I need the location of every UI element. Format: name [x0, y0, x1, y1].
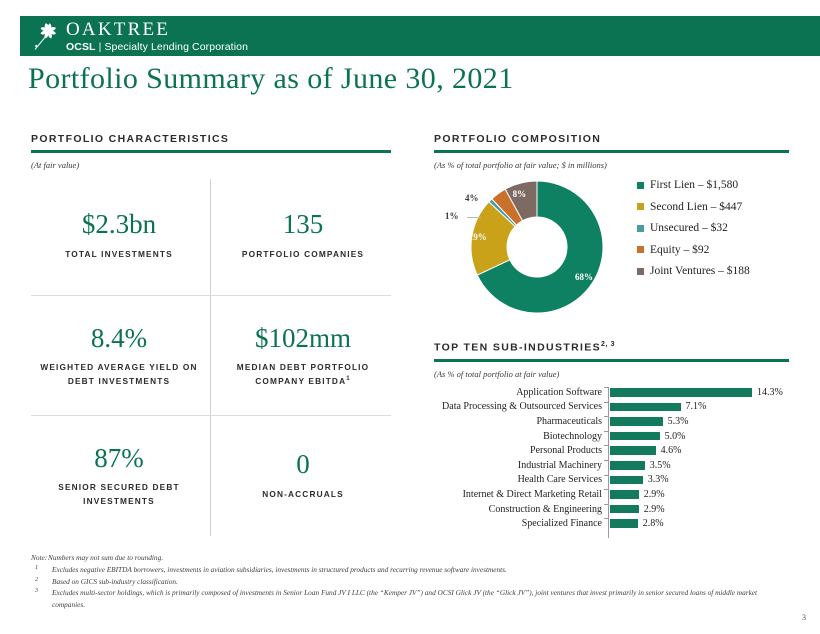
stat-label: MEDIAN DEBT PORTFOLIO COMPANY EBITDA1 — [215, 361, 391, 388]
footnote-ref: 1 — [346, 376, 351, 382]
bar-category-label: Pharmaceuticals — [434, 416, 608, 427]
bar-fill[interactable] — [610, 403, 681, 412]
stats-grid: $2.3bn TOTAL INVESTMENTS 135 PORTFOLIO C… — [31, 175, 391, 540]
bar-category-label: Specialized Finance — [434, 518, 608, 529]
axis-tick — [604, 431, 608, 432]
bar-fill[interactable] — [610, 519, 638, 528]
heading-text: TOP TEN SUB-INDUSTRIES — [434, 342, 601, 354]
brand-ticker: OCSL — [66, 41, 96, 53]
footnote-marker: Note: — [31, 552, 48, 564]
legend-color-chip — [637, 203, 644, 210]
stat-cell-median-ebitda: $102mm MEDIAN DEBT PORTFOLIO COMPANY EBI… — [215, 297, 391, 415]
bar-row: Personal Products4.6% — [434, 443, 794, 458]
top-ten-subindustries-note: (As % of total portfolio at fair value) — [434, 369, 789, 379]
footnote-item: 2 Based on GICS sub-industry classificat… — [31, 576, 776, 588]
bar-track: 3.5% — [608, 458, 794, 473]
section-rule — [434, 359, 789, 362]
stat-value: 87% — [94, 444, 144, 472]
legend-item: Joint Ventures – $188 — [637, 265, 797, 277]
bar-fill[interactable] — [610, 461, 645, 470]
brand-entity: | Specialty Lending Corporation — [96, 41, 248, 53]
bar-fill[interactable] — [610, 388, 752, 397]
footnotes: Note: Numbers may not sum due to roundin… — [31, 552, 776, 611]
bar-value-label: 2.9% — [644, 489, 665, 500]
bar-row: Health Care Services3.3% — [434, 473, 794, 488]
legend-item: First Lien – $1,580 — [637, 179, 797, 191]
portfolio-characteristics-section: PORTFOLIO CHARACTERISTICS (At fair value… — [31, 133, 391, 170]
bar-category-label: Health Care Services — [434, 474, 608, 485]
stat-value: 8.4% — [91, 324, 147, 352]
stat-value: 135 — [283, 210, 324, 238]
grid-horizontal-divider-1 — [31, 295, 391, 296]
stat-value: $102mm — [255, 324, 351, 352]
stat-label: NON-ACCRUALS — [262, 488, 344, 502]
bar-track: 2.9% — [608, 502, 794, 517]
top-ten-subindustries-chart: Application Software14.3%Data Processing… — [434, 385, 794, 540]
grid-horizontal-divider-2 — [31, 415, 391, 416]
page-number: 3 — [802, 613, 806, 622]
brand-subtitle: OCSL | Specialty Lending Corporation — [66, 42, 248, 53]
footnote-marker: 3 — [31, 587, 52, 611]
brand-name: OAKTREE — [66, 20, 248, 39]
axis-tick — [604, 402, 608, 403]
bar-value-label: 2.9% — [644, 504, 665, 515]
stat-cell-portfolio-companies: 135 PORTFOLIO COMPANIES — [215, 177, 391, 295]
axis-tick — [604, 445, 608, 446]
bar-value-label: 3.3% — [648, 474, 669, 485]
bar-track: 4.6% — [608, 443, 794, 458]
portfolio-composition-note: (As % of total portfolio at fair value; … — [434, 160, 789, 170]
bar-fill[interactable] — [610, 432, 660, 441]
footnote-ref: 2, 3 — [601, 341, 615, 348]
donut-slice-label: 19% — [469, 232, 487, 242]
bar-category-label: Construction & Engineering — [434, 504, 608, 515]
stat-label-text: MEDIAN DEBT PORTFOLIO COMPANY EBITDA — [237, 362, 369, 386]
bar-category-label: Application Software — [434, 387, 608, 398]
stat-label: PORTFOLIO COMPANIES — [242, 248, 364, 262]
axis-tick — [604, 416, 608, 417]
bar-track: 5.0% — [608, 429, 794, 444]
donut-slice-label: 8% — [513, 189, 527, 199]
footnote-text: Excludes multi-sector holdings, which is… — [52, 587, 776, 611]
portfolio-characteristics-note: (At fair value) — [31, 160, 391, 170]
bar-value-label: 14.3% — [757, 387, 783, 398]
bar-track: 7.1% — [608, 400, 794, 415]
stat-cell-non-accruals: 0 NON-ACCRUALS — [215, 417, 391, 535]
legend-label: Second Lien – $447 — [650, 201, 742, 213]
footnote-marker: 1 — [31, 564, 52, 576]
portfolio-characteristics-heading: PORTFOLIO CHARACTERISTICS — [31, 133, 391, 145]
axis-tick — [604, 504, 608, 505]
bar-track: 2.8% — [608, 516, 794, 531]
axis-tick — [604, 489, 608, 490]
bar-row: Pharmaceuticals5.3% — [434, 414, 794, 429]
bar-fill[interactable] — [610, 476, 643, 485]
bar-row: Application Software14.3% — [434, 385, 794, 400]
bar-row: Internet & Direct Marketing Retail2.9% — [434, 487, 794, 502]
portfolio-composition-section: PORTFOLIO COMPOSITION (As % of total por… — [434, 133, 789, 170]
bar-row: Industrial Machinery3.5% — [434, 458, 794, 473]
top-ten-subindustries-section: TOP TEN SUB-INDUSTRIES2, 3 (As % of tota… — [434, 341, 789, 379]
footnote-text: Based on GICS sub-industry classificatio… — [52, 576, 776, 588]
footnote-text: Numbers may not sum due to rounding. — [48, 552, 776, 564]
footnote-text: Excludes negative EBITDA borrowers, inve… — [52, 564, 776, 576]
donut-slice-label: 4% — [465, 193, 479, 203]
bar-value-label: 7.1% — [686, 401, 707, 412]
legend-color-chip — [637, 268, 644, 275]
bar-row: Specialized Finance2.8% — [434, 516, 794, 531]
bar-category-label: Internet & Direct Marketing Retail — [434, 489, 608, 500]
bar-row: Data Processing & Outsourced Services7.1… — [434, 400, 794, 415]
footnote-item: 3 Excludes multi-sector holdings, which … — [31, 587, 776, 611]
stat-value: 0 — [296, 450, 310, 478]
axis-tick — [604, 518, 608, 519]
legend-label: Unsecured – $32 — [650, 222, 728, 234]
bar-track: 14.3% — [608, 385, 794, 400]
bar-row: Biotechnology5.0% — [434, 429, 794, 444]
donut-chart-svg — [462, 175, 612, 320]
donut-slice-label: 68% — [575, 272, 593, 282]
bar-row: Construction & Engineering2.9% — [434, 502, 794, 517]
axis-tick — [604, 475, 608, 476]
top-ten-subindustries-heading: TOP TEN SUB-INDUSTRIES2, 3 — [434, 341, 789, 354]
bar-track: 3.3% — [608, 473, 794, 488]
legend-color-chip — [637, 225, 644, 232]
stat-cell-total-investments: $2.3bn TOTAL INVESTMENTS — [31, 177, 207, 295]
bar-fill[interactable] — [610, 505, 639, 514]
bar-fill[interactable] — [610, 417, 663, 426]
donut-legend: First Lien – $1,580 Second Lien – $447 U… — [637, 179, 797, 287]
legend-item: Equity – $92 — [637, 244, 797, 256]
bar-category-label: Data Processing & Outsourced Services — [434, 401, 608, 412]
bar-value-label: 2.8% — [643, 518, 664, 529]
bar-category-label: Industrial Machinery — [434, 460, 608, 471]
bar-value-label: 4.6% — [661, 445, 682, 456]
section-rule — [434, 150, 789, 153]
legend-color-chip — [637, 246, 644, 253]
slide-page: OAKTREE OCSL | Specialty Lending Corpora… — [0, 0, 820, 634]
bar-category-label: Biotechnology — [434, 431, 608, 442]
bar-track: 2.9% — [608, 487, 794, 502]
axis-tick — [604, 460, 608, 461]
footnote-note: Note: Numbers may not sum due to roundin… — [31, 552, 776, 564]
portfolio-composition-heading: PORTFOLIO COMPOSITION — [434, 133, 789, 145]
legend-label: First Lien – $1,580 — [650, 179, 738, 191]
section-rule — [31, 150, 391, 153]
page-title: Portfolio Summary as of June 30, 2021 — [28, 62, 514, 96]
legend-label: Equity – $92 — [650, 244, 709, 256]
bar-category-label: Personal Products — [434, 445, 608, 456]
legend-color-chip — [637, 182, 644, 189]
donut-slice-label: 1% — [445, 211, 459, 221]
legend-label: Joint Ventures – $188 — [650, 265, 750, 277]
stat-cell-senior-secured: 87% SENIOR SECURED DEBT INVESTMENTS — [31, 417, 207, 535]
bar-value-label: 5.3% — [668, 416, 689, 427]
portfolio-composition-chart: First Lien – $1,580 Second Lien – $447 U… — [437, 175, 792, 320]
legend-item: Second Lien – $447 — [637, 201, 797, 213]
leader-line — [467, 217, 481, 218]
brand-text-block: OAKTREE OCSL | Specialty Lending Corpora… — [66, 20, 248, 53]
bar-track: 5.3% — [608, 414, 794, 429]
oak-leaf-icon — [28, 19, 62, 53]
brand-header-bar: OAKTREE OCSL | Specialty Lending Corpora… — [20, 16, 820, 56]
legend-item: Unsecured – $32 — [637, 222, 797, 234]
stat-value: $2.3bn — [82, 210, 156, 238]
stat-label: WEIGHTED AVERAGE YIELD ON DEBT INVESTMEN… — [31, 361, 207, 388]
bar-fill[interactable] — [610, 490, 639, 499]
stat-label: SENIOR SECURED DEBT INVESTMENTS — [31, 481, 207, 508]
footnote-item: 1 Excludes negative EBITDA borrowers, in… — [31, 564, 776, 576]
bar-fill[interactable] — [610, 446, 656, 455]
stat-label: TOTAL INVESTMENTS — [65, 248, 173, 262]
axis-tick — [604, 387, 608, 388]
stat-cell-weighted-average-yield: 8.4% WEIGHTED AVERAGE YIELD ON DEBT INVE… — [31, 297, 207, 415]
bar-value-label: 3.5% — [650, 460, 671, 471]
grid-vertical-divider — [210, 179, 211, 536]
footnote-marker: 2 — [31, 576, 52, 588]
bar-value-label: 5.0% — [665, 431, 686, 442]
